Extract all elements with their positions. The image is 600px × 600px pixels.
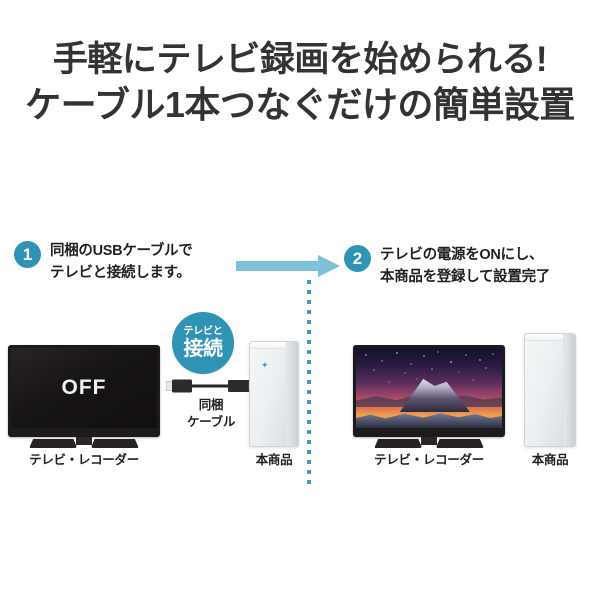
usb-cable-icon	[166, 378, 256, 394]
tv-device-off: OFF	[8, 345, 160, 437]
product-device-label-right: 本商品	[520, 452, 580, 469]
tv-stand-foot-right	[91, 439, 139, 448]
callout-connect-big: 接続	[184, 339, 223, 359]
product-device-label-left: 本商品	[244, 452, 304, 469]
usb-cable-label-line-1: 同梱	[175, 397, 247, 414]
tv-stand-foot-right	[436, 439, 484, 448]
tv-stand-neck	[421, 437, 437, 445]
step-1-illustration-panel: OFF テレビ・レコーダー 同梱 ケーブル ✦ 本商品 テレビと 接続	[0, 0, 307, 600]
tv-device-label-left: テレビ・レコーダー	[8, 452, 160, 469]
tv-screen-off-label: OFF	[62, 376, 107, 400]
tv-stand-foot-left	[374, 439, 422, 448]
callout-badge-connect: テレビと 接続	[172, 312, 234, 374]
product-led-icon: ✦	[261, 362, 267, 368]
product-body: ✦	[249, 341, 299, 447]
product-side-panel	[286, 342, 298, 446]
tv-device-label-right: テレビ・レコーダー	[353, 452, 505, 469]
tv-stand-neck	[76, 437, 92, 445]
tv-device-on	[353, 345, 505, 437]
product-device-right	[524, 333, 576, 447]
tv-frame	[353, 345, 505, 437]
usb-cable-label: 同梱 ケーブル	[175, 397, 247, 431]
product-body	[524, 333, 576, 447]
usb-cable-label-line-2: ケーブル	[175, 414, 247, 431]
product-device-left: ✦	[249, 341, 299, 447]
tv-screen-off: OFF	[11, 348, 157, 428]
callout-connect-small: テレビと	[183, 327, 222, 337]
tv-frame: OFF	[8, 345, 160, 437]
product-side-panel	[563, 334, 575, 446]
tv-screen-on	[356, 348, 502, 428]
step-2-illustration-panel: テレビ・レコーダー 本商品 設置 完了	[311, 0, 600, 600]
tv-stand-foot-left	[29, 439, 77, 448]
